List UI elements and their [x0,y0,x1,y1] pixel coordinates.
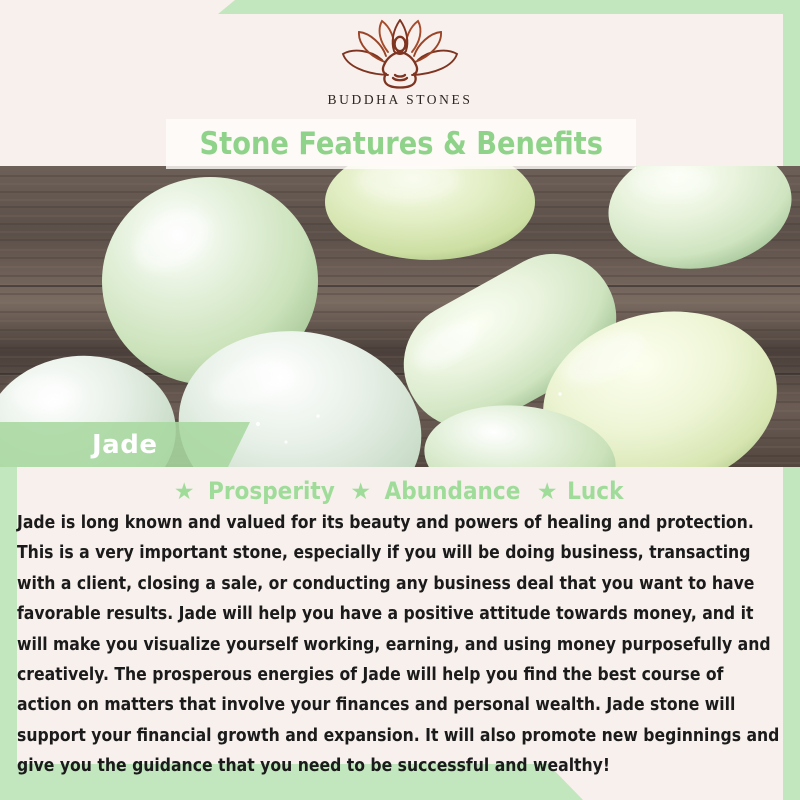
benefit-label: Abundance [385,477,521,505]
stone-name-band: Jade [0,422,250,467]
brand-logo: BUDDHA STONES [0,18,800,118]
stone-description-text: Jade is long known and valued for its be… [17,508,782,782]
lotus-meditation-icon [325,18,475,90]
benefit-label: Luck [567,477,623,505]
page-title: Stone Features & Benefits [199,126,602,162]
star-icon: ★ [537,480,558,503]
benefit-item-abundance: ★ Abundance [350,477,528,505]
jade-stones-photo [0,166,800,467]
page-title-ribbon: Stone Features & Benefits [166,119,636,169]
jade-stones-image [0,166,800,467]
brand-name: BUDDHA STONES [328,92,473,108]
stone-description: Jade is long known and valued for its be… [17,508,783,782]
benefit-item-prosperity: ★ Prosperity [174,477,341,505]
benefits-row: ★ Prosperity ★ Abundance ★ Luck [0,474,800,508]
benefit-label: Prosperity [208,477,335,505]
star-icon: ★ [174,480,195,503]
infographic-page: BUDDHA STONES [0,0,800,800]
benefit-item-luck: ★ Luck [537,477,626,505]
star-icon: ★ [350,480,371,503]
stone-name: Jade [92,430,157,460]
decor-band-top [218,0,800,14]
